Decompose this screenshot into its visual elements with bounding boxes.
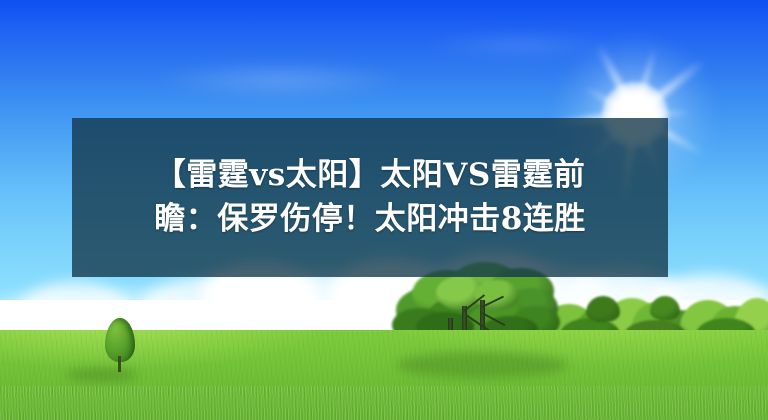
sky-haze-right: [420, 30, 620, 60]
large-tree-shadow: [396, 352, 568, 378]
small-tree: [102, 318, 138, 372]
grass-blades: [0, 386, 768, 420]
sky-haze-left: [150, 60, 410, 100]
headline-line-2: 瞻：保罗伤停！太阳冲击8连胜: [154, 203, 586, 236]
tree-line-clump-13: [586, 296, 620, 322]
tree-line-clump-14: [650, 296, 680, 320]
article-banner-image: 【雷霆vs太阳】太阳VS雷霆前 瞻：保罗伤停！太阳冲击8连胜: [0, 0, 768, 420]
headline-line-1: 【雷霆vs太阳】太阳VS雷霆前: [155, 159, 585, 192]
headline-text-block: 【雷霆vs太阳】太阳VS雷霆前 瞻：保罗伤停！太阳冲击8连胜: [72, 118, 668, 277]
small-tree-trunk: [118, 356, 121, 372]
